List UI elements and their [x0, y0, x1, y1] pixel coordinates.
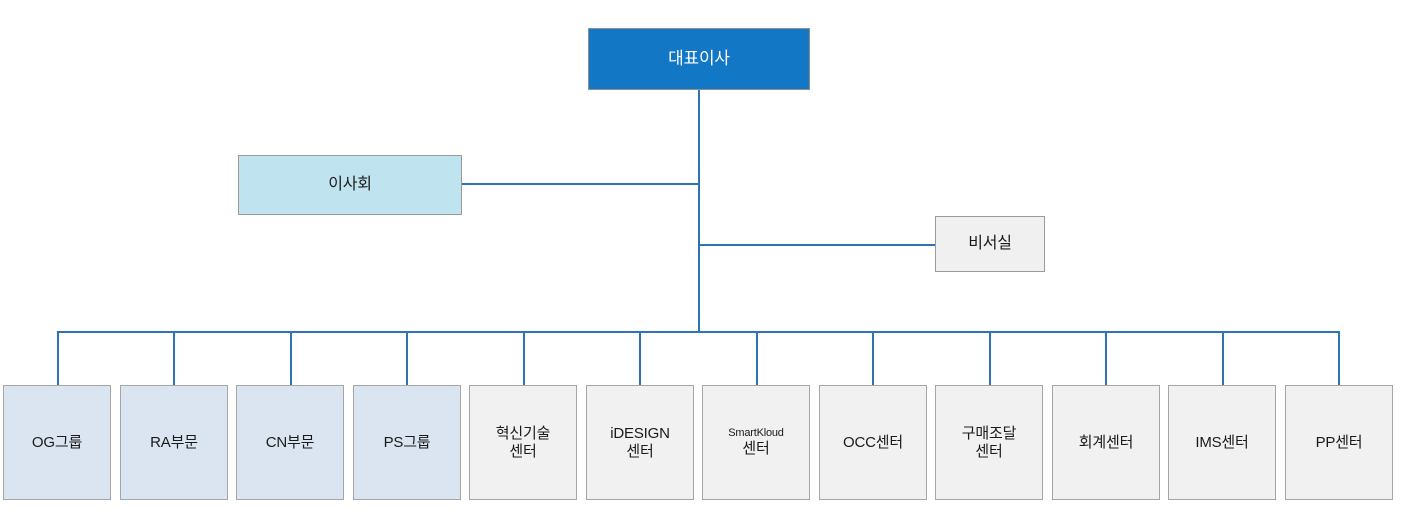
node-unit-accounting-center[interactable]: 회계센터	[1052, 385, 1160, 500]
node-unit-ra[interactable]: RA부문	[120, 385, 228, 500]
node-unit-label: OG그룹	[32, 434, 82, 452]
connector-drop-10	[1105, 331, 1107, 385]
node-unit-label: RA부문	[150, 434, 198, 452]
node-unit-smartkloud-center[interactable]: SmartKloud 센터	[702, 385, 810, 500]
connector-drop-9	[989, 331, 991, 385]
node-unit-label: IMS센터	[1195, 434, 1248, 452]
node-unit-label: PS그룹	[384, 434, 431, 452]
node-unit-label: OCC센터	[843, 434, 903, 452]
node-unit-label: SmartKloud 센터	[728, 414, 783, 471]
node-unit-procurement-center[interactable]: 구매조달 센터	[935, 385, 1043, 500]
node-unit-occ-center[interactable]: OCC센터	[819, 385, 927, 500]
node-secretariat-label: 비서실	[968, 235, 1012, 254]
connector-drop-12	[1338, 331, 1340, 385]
connector-drop-1	[57, 331, 59, 385]
connector-ceo-trunk	[698, 90, 700, 333]
connector-drop-11	[1222, 331, 1224, 385]
node-unit-label: 혁신기술 센터	[496, 425, 550, 460]
node-unit-label: CN부문	[266, 434, 314, 452]
node-unit-label: PP센터	[1316, 434, 1363, 452]
node-unit-pp-center[interactable]: PP센터	[1285, 385, 1393, 500]
node-unit-cn[interactable]: CN부문	[236, 385, 344, 500]
connector-bus	[57, 331, 1339, 333]
node-unit-ps[interactable]: PS그룹	[353, 385, 461, 500]
node-unit-label: 회계센터	[1079, 434, 1133, 452]
connector-drop-8	[872, 331, 874, 385]
org-chart: 대표이사 이사회 비서실 OG그룹 RA부문 CN부문 PS그룹 혁신기술 센터…	[0, 0, 1402, 508]
node-unit-idesign-center[interactable]: iDESIGN 센터	[586, 385, 694, 500]
connector-drop-4	[406, 331, 408, 385]
node-unit-label: 구매조달 센터	[962, 425, 1016, 460]
node-unit-og[interactable]: OG그룹	[3, 385, 111, 500]
node-unit-ims-center[interactable]: IMS센터	[1168, 385, 1276, 500]
node-unit-label: iDESIGN 센터	[610, 425, 669, 460]
connector-board-branch	[462, 183, 700, 185]
connector-drop-2	[173, 331, 175, 385]
node-board-label: 이사회	[328, 176, 372, 195]
connector-drop-7	[756, 331, 758, 385]
connector-staff-branch	[698, 244, 936, 246]
node-unit-innovation-tech-center[interactable]: 혁신기술 센터	[469, 385, 577, 500]
connector-drop-3	[290, 331, 292, 385]
node-ceo[interactable]: 대표이사	[588, 28, 810, 90]
node-unit-label-top: SmartKloud	[728, 427, 783, 439]
connector-drop-6	[639, 331, 641, 385]
node-ceo-label: 대표이사	[668, 49, 730, 69]
node-board[interactable]: 이사회	[238, 155, 462, 215]
connector-drop-5	[523, 331, 525, 385]
node-secretariat[interactable]: 비서실	[935, 216, 1045, 272]
node-unit-label-bottom: 센터	[728, 440, 783, 458]
